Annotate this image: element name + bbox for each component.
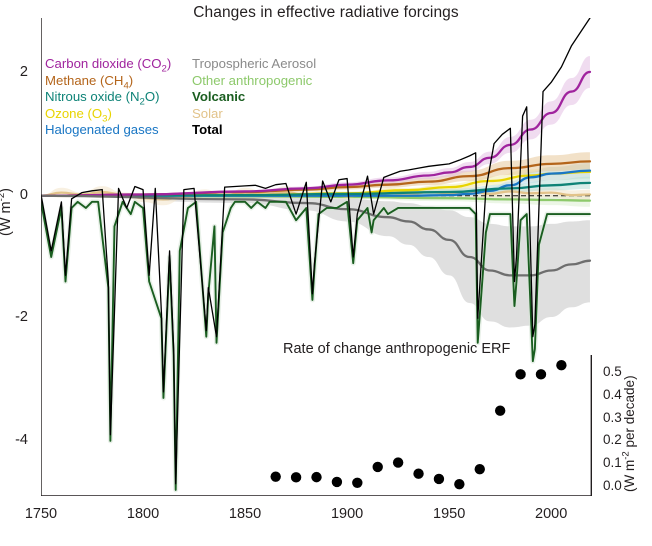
- x-tick-1750: 1750: [11, 506, 71, 522]
- inset-point: [556, 360, 566, 370]
- inset-y-tick-0p3: 0.3: [603, 410, 622, 425]
- y-tick-neg2: -2: [2, 309, 28, 325]
- x-tick-1800: 1800: [113, 506, 173, 522]
- legend-item-nitrous-oxide-n-o: Nitrous oxide (N2O): [45, 89, 171, 106]
- x-tick-1900: 1900: [317, 506, 377, 522]
- legend-column-2: Tropospheric AerosolOther anthropogenicV…: [192, 56, 316, 139]
- legend-item-total: Total: [192, 122, 316, 139]
- legend-item-tropospheric-aerosol: Tropospheric Aerosol: [192, 56, 316, 73]
- inset-y-tick-0p5: 0.5: [603, 364, 622, 379]
- inset-point: [332, 477, 342, 487]
- y-axis-title: (W m-2): [0, 188, 14, 236]
- y-tick-2: 2: [2, 64, 28, 80]
- inset-y-axis-title: (W m-2 per decade): [620, 375, 637, 492]
- inset-point: [495, 406, 505, 416]
- inset-point: [270, 471, 280, 481]
- x-tick-1850: 1850: [215, 506, 275, 522]
- inset-y-tick-0p1: 0.1: [603, 455, 622, 470]
- inset-point: [291, 472, 301, 482]
- y-axis-title-text: (W m-2): [0, 188, 14, 236]
- inset-point: [536, 369, 546, 379]
- inset-point: [352, 478, 362, 488]
- legend-item-volcanic: Volcanic: [192, 89, 316, 106]
- inset-y-tick-0p4: 0.4: [603, 387, 622, 402]
- inset-y-tick-0p2: 0.2: [603, 432, 622, 447]
- inset-chart-svg: [255, 355, 592, 496]
- inset-chart: [255, 355, 592, 496]
- legend-column-1: Carbon dioxide (CO2)Methane (CH4)Nitrous…: [45, 56, 171, 139]
- x-tick-1950: 1950: [419, 506, 479, 522]
- inset-y-tick-0p0: 0.0: [603, 478, 622, 493]
- inset-point: [434, 474, 444, 484]
- inset-point: [515, 369, 525, 379]
- y-tick-neg4: -4: [2, 432, 28, 448]
- inset-point: [413, 469, 423, 479]
- legend-item-methane-ch: Methane (CH4): [45, 73, 171, 90]
- x-tick-2000: 2000: [521, 506, 581, 522]
- figure-root: Changes in effective radiative forcings …: [0, 0, 652, 546]
- inset-point: [393, 457, 403, 467]
- legend-item-halogenated-gases: Halogenated gases: [45, 122, 171, 139]
- inset-y-axis-title-text: (W m-2 per decade): [622, 375, 637, 492]
- inset-point: [373, 462, 383, 472]
- legend-item-carbon-dioxide-co: Carbon dioxide (CO2): [45, 56, 171, 73]
- inset-point: [475, 464, 485, 474]
- inset-point: [311, 472, 321, 482]
- legend-item-other-anthropogenic: Other anthropogenic: [192, 73, 316, 90]
- legend-item-solar: Solar: [192, 106, 316, 123]
- legend-item-ozone-o: Ozone (O3): [45, 106, 171, 123]
- inset-point: [454, 479, 464, 489]
